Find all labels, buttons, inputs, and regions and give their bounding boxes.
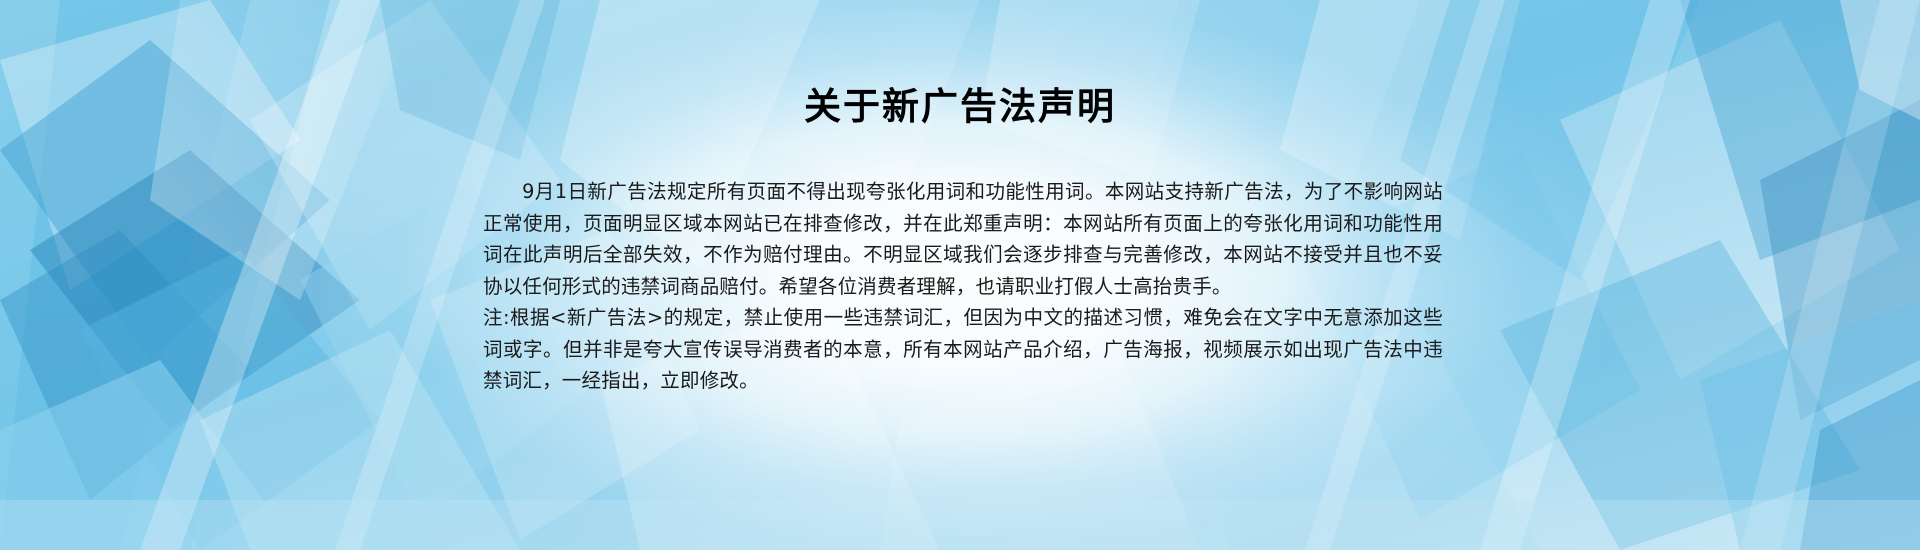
statement-paragraph-2: 注:根据<新广告法>的规定，禁止使用一些违禁词汇，但因为中文的描述习惯，难免会在…	[483, 302, 1443, 397]
statement-content: 关于新广告法声明 9月1日新广告法规定所有页面不得出现夸张化用词和功能性用词。本…	[0, 0, 1920, 550]
statement-body: 9月1日新广告法规定所有页面不得出现夸张化用词和功能性用词。本网站支持新广告法，…	[483, 176, 1443, 397]
advertising-law-statement-banner: 关于新广告法声明 9月1日新广告法规定所有页面不得出现夸张化用词和功能性用词。本…	[0, 0, 1920, 550]
page-title: 关于新广告法声明	[0, 84, 1920, 130]
statement-paragraph-1: 9月1日新广告法规定所有页面不得出现夸张化用词和功能性用词。本网站支持新广告法，…	[483, 176, 1443, 302]
